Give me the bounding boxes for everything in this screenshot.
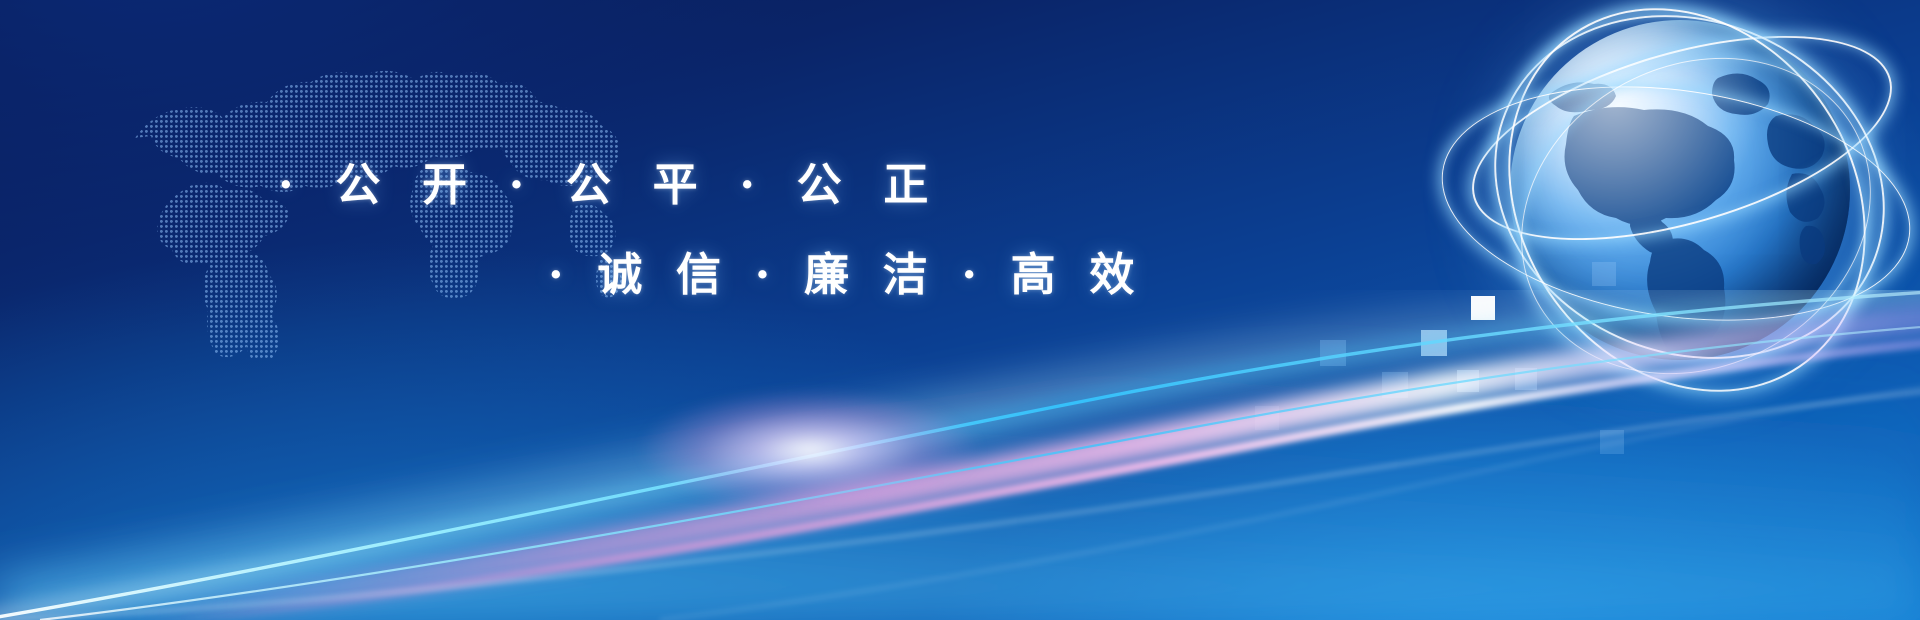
- slogan-line-1: · 公 开 · 公 平 · 公 正: [278, 148, 941, 213]
- decorative-square-7: [1592, 262, 1616, 286]
- light-wave-group: [0, 290, 1920, 620]
- banner-root: · 公 开 · 公 平 · 公 正 · 诚 信 · 廉 洁 · 高 效: [0, 0, 1920, 620]
